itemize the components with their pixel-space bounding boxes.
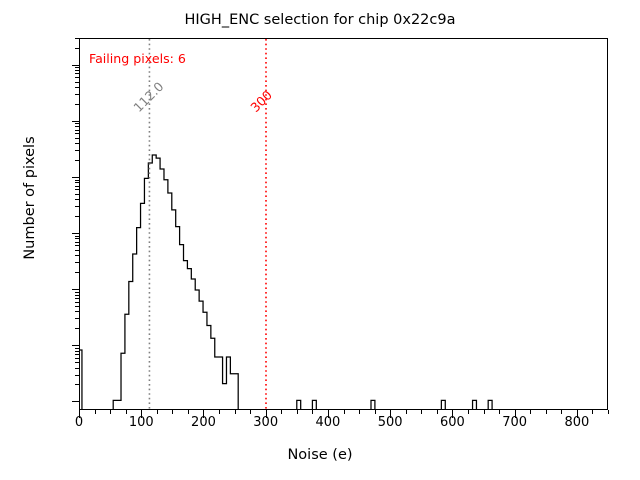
x-tick-minor	[561, 410, 562, 414]
x-tick-minor	[592, 410, 593, 414]
x-tick-minor	[219, 410, 220, 414]
y-tick-major	[72, 65, 80, 66]
x-tick-minor	[281, 410, 282, 414]
histogram-figure: HIGH_ENC selection for chip 0x22c9a Numb…	[0, 0, 640, 480]
x-tick-minor	[359, 410, 360, 414]
x-tick-major	[390, 410, 391, 418]
y-tick-major	[72, 177, 80, 178]
x-tick-major	[141, 410, 142, 418]
x-tick-major	[266, 410, 267, 418]
y-tick-major	[72, 401, 80, 402]
x-tick-minor	[406, 410, 407, 414]
x-tick-minor	[95, 410, 96, 414]
page-title: HIGH_ENC selection for chip 0x22c9a	[0, 12, 640, 28]
x-tick-minor	[437, 410, 438, 414]
x-tick-major	[452, 410, 453, 418]
x-tick-minor	[546, 410, 547, 414]
x-tick-minor	[312, 410, 313, 414]
x-tick-minor	[530, 410, 531, 414]
x-tick-minor	[250, 410, 251, 414]
x-tick-minor	[484, 410, 485, 414]
x-tick-major	[577, 410, 578, 418]
x-tick-minor	[468, 410, 469, 414]
failing-pixels-annotation: Failing pixels: 6	[89, 51, 186, 66]
y-tick-major	[72, 233, 80, 234]
histogram-outline	[80, 155, 492, 409]
x-tick-major	[515, 410, 516, 418]
y-tick-major	[72, 289, 80, 290]
x-tick-major	[328, 410, 329, 418]
x-tick-minor	[126, 410, 127, 414]
x-tick-major	[203, 410, 204, 418]
x-tick-minor	[375, 410, 376, 414]
x-tick-major	[79, 410, 80, 418]
x-tick-minor	[499, 410, 500, 414]
y-tick-major	[72, 121, 80, 122]
x-tick-minor	[172, 410, 173, 414]
x-tick-minor	[344, 410, 345, 414]
x-tick-minor	[297, 410, 298, 414]
x-tick-minor	[157, 410, 158, 414]
y-tick-major	[72, 345, 80, 346]
x-tick-minor	[110, 410, 111, 414]
x-tick-minor	[421, 410, 422, 414]
x-tick-minor	[188, 410, 189, 414]
x-tick-minor	[608, 410, 609, 414]
x-axis-label: Noise (e)	[0, 447, 640, 463]
y-axis-label: Number of pixels	[22, 78, 38, 318]
x-tick-minor	[235, 410, 236, 414]
